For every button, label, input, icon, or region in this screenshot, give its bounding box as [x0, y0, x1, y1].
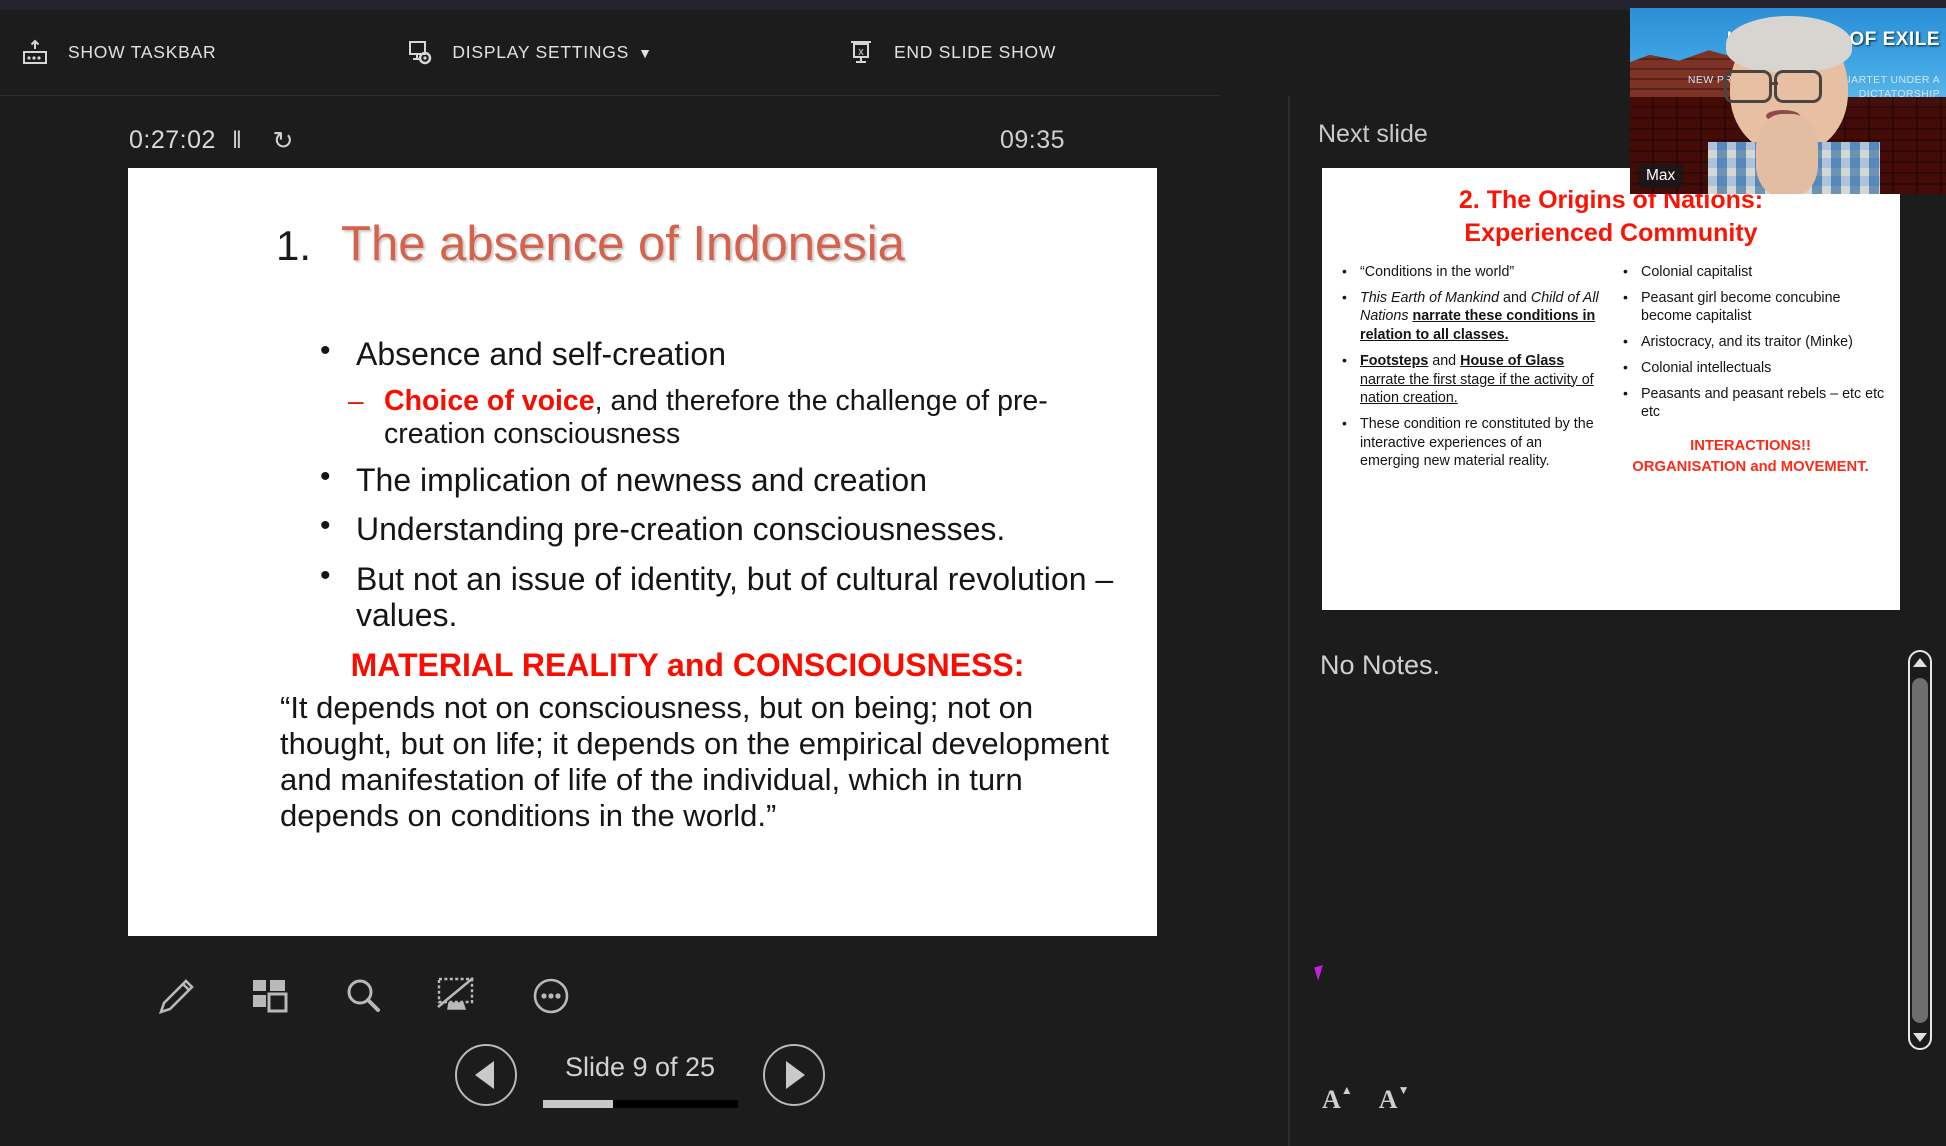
presenter-view: SHOW TASKBAR DISPLAY SETTINGS ▼ x: [0, 0, 1946, 1146]
end-slide-show-button[interactable]: x END SLIDE SHOW: [826, 10, 1074, 95]
slide-emphasis-heading: MATERIAL REALITY and CONSCIOUSNESS:: [314, 647, 1117, 684]
slide-progress-fill: [543, 1100, 613, 1108]
glasses-left-lens: [1724, 70, 1772, 103]
slide-title-number: 1.: [276, 222, 311, 270]
bullet-run: narrate the first stage if the activity …: [1360, 372, 1594, 407]
scrollbar-thumb[interactable]: [1912, 678, 1928, 1023]
participant-name-label: Max: [1638, 164, 1683, 188]
slide-bullet: Understanding pre-creation consciousness…: [314, 511, 1117, 547]
next-slide-emphasis: INTERACTIONS!! ORGANISATION and MOVEMENT…: [1615, 436, 1886, 478]
next-slide-bullet: “Conditions in the world”: [1334, 263, 1605, 282]
notes-text: No Notes.: [1320, 650, 1440, 681]
next-slide-bullet: These condition re constituted by the in…: [1334, 415, 1605, 471]
chevron-right-icon: [786, 1061, 805, 1089]
chevron-down-icon: ▼: [638, 45, 652, 61]
slide-navigation: Slide 9 of 25: [455, 1044, 825, 1122]
next-slide-preview[interactable]: 2. The Origins of Nations: Experienced C…: [1322, 168, 1900, 610]
next-slide-bullet: Colonial intellectuals: [1615, 359, 1886, 378]
next-slide-button[interactable]: [763, 1044, 825, 1106]
glasses-bridge: [1772, 82, 1778, 85]
bullet-run: Footsteps: [1360, 353, 1428, 369]
elapsed-timer: 0:27:02: [129, 126, 216, 155]
pause-timer-button[interactable]: ‖: [222, 126, 252, 156]
bullet-run: and: [1428, 353, 1460, 369]
scroll-down-icon[interactable]: [1913, 1033, 1927, 1042]
show-taskbar-button[interactable]: SHOW TASKBAR: [0, 10, 234, 95]
slide-sub-bullet: Choice of voice, and therefore the chall…: [348, 385, 1117, 449]
svg-text:x: x: [858, 46, 864, 58]
black-screen-icon[interactable]: [426, 965, 488, 1027]
bullet-run: This Earth of Mankind: [1360, 290, 1499, 306]
next-slide-bullet: Peasant girl become concubine become cap…: [1615, 289, 1886, 326]
slide-quote: “It depends not on consciousness, but on…: [280, 690, 1117, 834]
next-slide-bullet: Aristocracy, and its traitor (Minke): [1615, 333, 1886, 352]
slide-bullet: But not an issue of identity, but of cul…: [314, 561, 1117, 634]
display-settings-icon: [402, 36, 436, 70]
next-slide-bullet: Peasants and peasant rebels – etc etc et…: [1615, 385, 1886, 422]
slide-progress-track[interactable]: [543, 1100, 738, 1108]
display-settings-button[interactable]: DISPLAY SETTINGS ▼: [384, 10, 670, 95]
slide-body: Absence and self-creation Choice of voic…: [128, 336, 1157, 834]
zoom-icon[interactable]: [332, 965, 394, 1027]
person-hair: [1726, 16, 1852, 72]
sub-bullet-highlight: Choice of voice: [384, 385, 595, 417]
end-slide-show-label: END SLIDE SHOW: [894, 42, 1056, 63]
slide-tools-bar: [128, 950, 688, 1042]
glasses-right-lens: [1774, 70, 1822, 103]
taskbar-icon: [18, 36, 52, 70]
caret-up-icon: ▲: [1341, 1083, 1353, 1098]
next-slide-right-column: Colonial capitalistPeasant girl become c…: [1615, 263, 1886, 478]
pen-icon[interactable]: [144, 965, 206, 1027]
caret-down-icon: ▼: [1398, 1083, 1410, 1098]
notes-scrollbar[interactable]: [1908, 650, 1932, 1050]
increase-font-button[interactable]: A▲: [1322, 1085, 1341, 1115]
current-slide[interactable]: 1. The absence of Indonesia Absence and …: [128, 168, 1157, 936]
end-slide-show-icon: x: [844, 36, 878, 70]
timer-row: 0:27:02 ‖ ↻ 09:35: [0, 112, 1225, 170]
toolbar-divider: [0, 95, 1220, 96]
bullet-run: These condition re constituted by the in…: [1360, 416, 1594, 469]
person-hand: [1756, 114, 1818, 194]
webcam-overlay[interactable]: INDONESIA: OF EXILE NEW PRAMOEDYA'S BURU…: [1630, 8, 1946, 194]
next-slide-bullet: Footsteps and House of Glass narrate the…: [1334, 352, 1605, 408]
increase-font-label: A: [1322, 1085, 1341, 1114]
slide-title: 1. The absence of Indonesia: [128, 216, 1157, 272]
next-slide-heading: Next slide: [1318, 120, 1428, 149]
emphasis-line: INTERACTIONS!!: [1615, 436, 1886, 457]
next-slide-title-line2: Experienced Community: [1350, 217, 1872, 250]
all-slides-icon[interactable]: [238, 965, 300, 1027]
slide-bullet: Absence and self-creation: [314, 336, 1117, 372]
reset-timer-button[interactable]: ↻: [268, 126, 298, 156]
next-slide-left-column: “Conditions in the world”This Earth of M…: [1334, 263, 1605, 478]
next-slide-bullet: Colonial capitalist: [1615, 263, 1886, 282]
webcam-person: [1708, 18, 1880, 194]
display-settings-label: DISPLAY SETTINGS: [452, 42, 629, 63]
wall-clock: 09:35: [1000, 126, 1065, 155]
decrease-font-button[interactable]: A▼: [1379, 1085, 1398, 1115]
next-slide-bullet: This Earth of Mankind and Child of All N…: [1334, 289, 1605, 345]
notes-pane[interactable]: No Notes.: [1292, 622, 1946, 1052]
slide-title-text: The absence of Indonesia: [341, 216, 905, 272]
scroll-up-icon[interactable]: [1913, 658, 1927, 667]
bullet-run: and: [1499, 290, 1531, 306]
slide-bullet: The implication of newness and creation: [314, 462, 1117, 498]
notes-font-controls: A▲ A▼: [1322, 1085, 1398, 1115]
panel-divider: [1288, 96, 1290, 1146]
decrease-font-label: A: [1379, 1085, 1398, 1114]
bullet-run: “Conditions in the world”: [1360, 264, 1514, 280]
bullet-run: House of Glass: [1460, 353, 1564, 369]
emphasis-line: ORGANISATION and MOVEMENT.: [1615, 457, 1886, 478]
show-taskbar-label: SHOW TASKBAR: [68, 42, 216, 63]
more-options-icon[interactable]: [520, 965, 582, 1027]
